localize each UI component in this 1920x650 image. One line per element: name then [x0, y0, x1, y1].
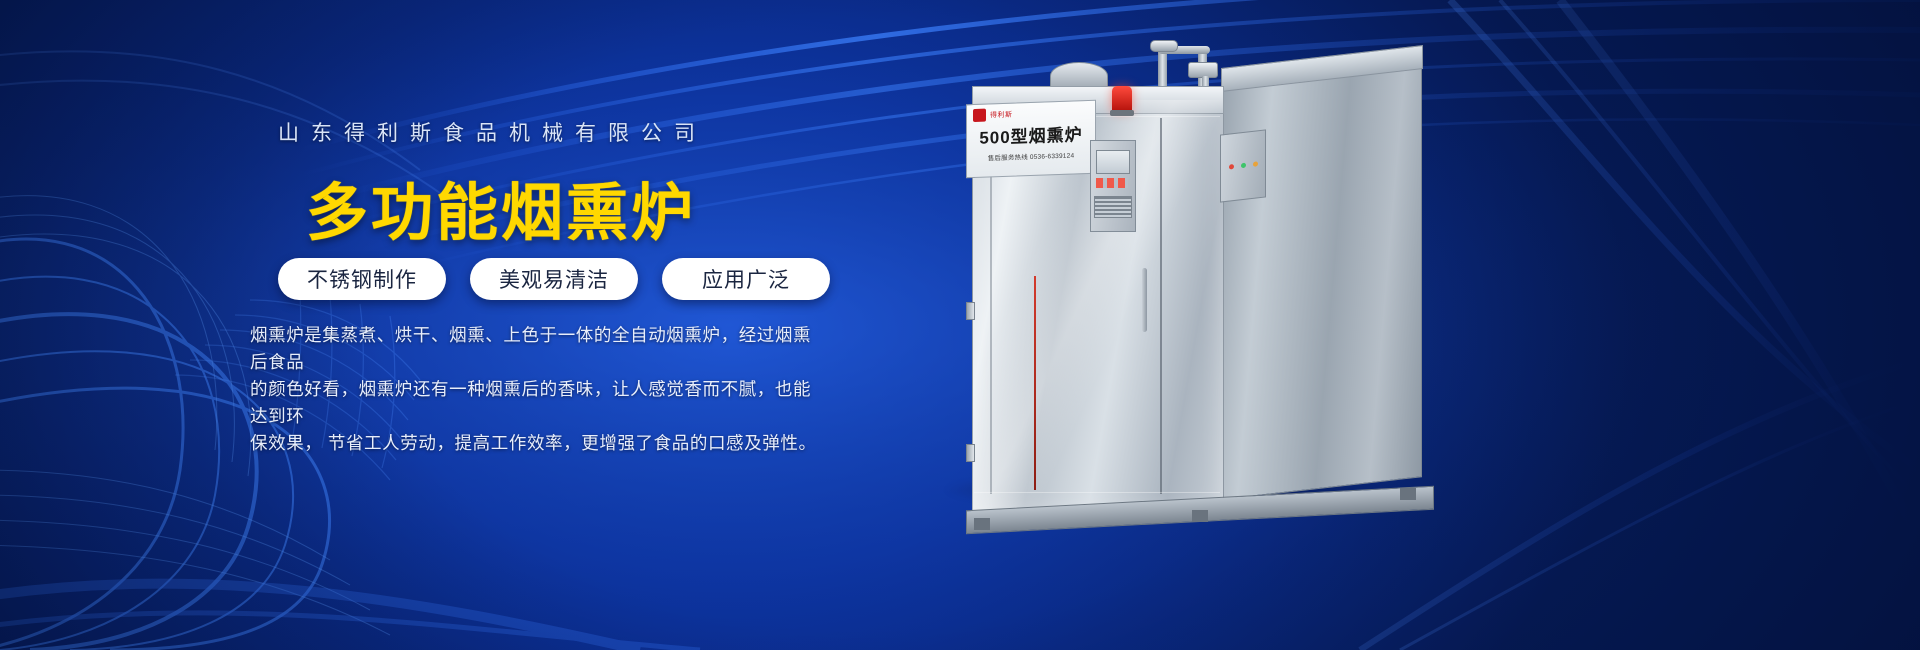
alarm-beacon-base: [1110, 110, 1134, 116]
machine-name-plate: 得利斯 500型烟熏炉 售后服务热线 0536-6339124: [966, 100, 1096, 179]
red-trim-line: [1034, 276, 1036, 490]
feature-pill-wide-use[interactable]: 应用广泛: [662, 258, 830, 300]
feature-pill-easy-clean[interactable]: 美观易清洁: [470, 258, 638, 300]
brand-name: 得利斯: [990, 109, 1013, 120]
cabinet-foot-right: [1400, 488, 1416, 500]
panel-line-bottom: [974, 492, 1220, 493]
alarm-beacon-icon: [1112, 86, 1132, 112]
cabinet-foot-left: [974, 518, 990, 530]
valve-wheel: [1150, 40, 1178, 52]
brand-logo-icon: [973, 109, 986, 122]
cabinet-side-panel: [1222, 45, 1422, 500]
indicator-light-green: [1241, 163, 1246, 169]
door-hinge-bottom: [966, 444, 975, 462]
control-panel-buttons[interactable]: [1096, 178, 1128, 188]
door-hinge-mid: [966, 302, 975, 320]
indicator-light-red: [1229, 164, 1234, 170]
control-panel-vent: [1094, 196, 1132, 218]
door-seam-right: [1160, 118, 1162, 494]
company-name: 山东得利斯食品机械有限公司: [278, 117, 707, 147]
side-electrical-box[interactable]: [1220, 129, 1266, 202]
feature-pill-stainless[interactable]: 不锈钢制作: [278, 258, 446, 300]
service-hotline: 售后服务热线 0536-6339124: [967, 149, 1095, 163]
description-line-1: 烟熏炉是集蒸煮、烘干、烟熏、上色于一体的全自动烟熏炉，经过烟熏后食品: [250, 322, 822, 376]
page-title: 多功能烟熏炉: [306, 162, 696, 252]
control-panel-display: [1096, 150, 1130, 174]
description-line-3: 保效果， 节省工人劳动，提高工作效率，更增强了食品的口感及弹性。: [250, 430, 822, 457]
banner-text-content: 山东得利斯食品机械有限公司 多功能烟熏炉 不锈钢制作 美观易清洁 应用广泛 烟熏…: [0, 0, 860, 650]
product-description: 烟熏炉是集蒸煮、烘干、烟熏、上色于一体的全自动烟熏炉，经过烟熏后食品 的颜色好看…: [250, 322, 822, 457]
brand-row: 得利斯: [967, 101, 1095, 122]
machine-model-label: 500型烟熏炉: [967, 120, 1095, 149]
feature-pill-list: 不锈钢制作 美观易清洁 应用广泛: [278, 258, 830, 300]
promo-banner: 山东得利斯食品机械有限公司 多功能烟熏炉 不锈钢制作 美观易清洁 应用广泛 烟熏…: [0, 0, 1920, 650]
cabinet-foot-mid: [1192, 510, 1208, 522]
smokehouse-oven-image: 得利斯 500型烟熏炉 售后服务热线 0536-6339124: [930, 40, 1490, 540]
door-handle[interactable]: [1142, 268, 1147, 332]
indicator-light-amber: [1253, 161, 1258, 167]
description-line-2: 的颜色好看，烟熏炉还有一种烟熏后的香味，让人感觉香而不腻，也能达到环: [250, 376, 822, 430]
